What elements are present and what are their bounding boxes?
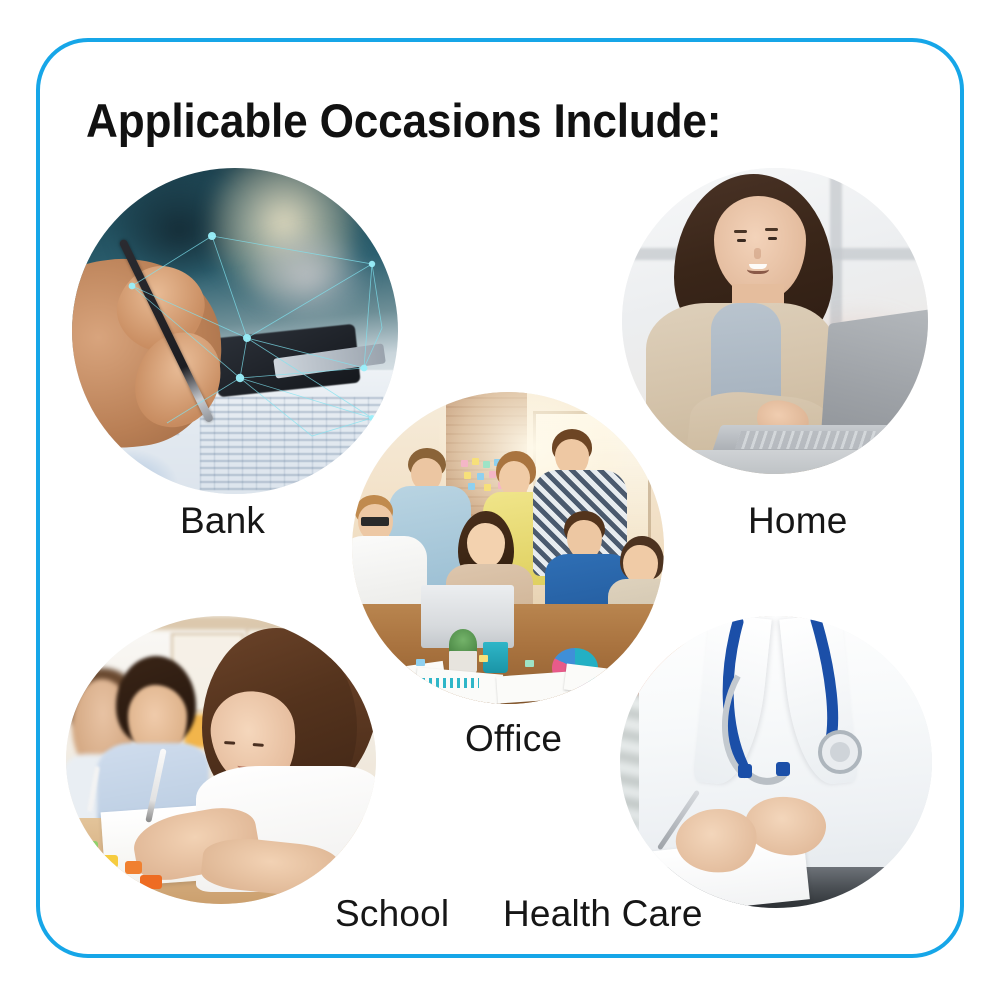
occasion-label-bank: Bank — [180, 500, 265, 542]
occasion-label-school: School — [335, 893, 449, 935]
bank-network-overlay — [72, 168, 398, 494]
school-foam-letter — [125, 861, 142, 874]
promo-banner: Applicable Occasions Include: — [0, 0, 1000, 1000]
school-foam-letter — [140, 875, 162, 889]
occasion-image-health-care — [620, 616, 932, 908]
office-papers — [364, 635, 651, 704]
school-scene — [66, 616, 376, 904]
occasion-label-office: Office — [465, 718, 562, 760]
bank-scene — [72, 168, 398, 494]
page-title: Applicable Occasions Include: — [86, 93, 721, 148]
office-scene — [352, 392, 664, 704]
occasion-label-home: Home — [748, 500, 848, 542]
home-laptop-keyboard — [735, 431, 876, 449]
occasion-image-school — [66, 616, 376, 904]
health-care-scene — [620, 616, 932, 908]
occasion-label-health-care: Health Care — [503, 893, 703, 935]
school-foam-letter — [100, 855, 118, 868]
occasion-image-bank — [72, 168, 398, 494]
home-desk — [622, 450, 928, 474]
office-person-head — [467, 523, 504, 567]
home-scene — [622, 168, 928, 474]
occasion-image-home — [622, 168, 928, 474]
office-glasses — [361, 517, 389, 526]
school-foam-letter — [82, 841, 98, 853]
occasion-image-office — [352, 392, 664, 704]
